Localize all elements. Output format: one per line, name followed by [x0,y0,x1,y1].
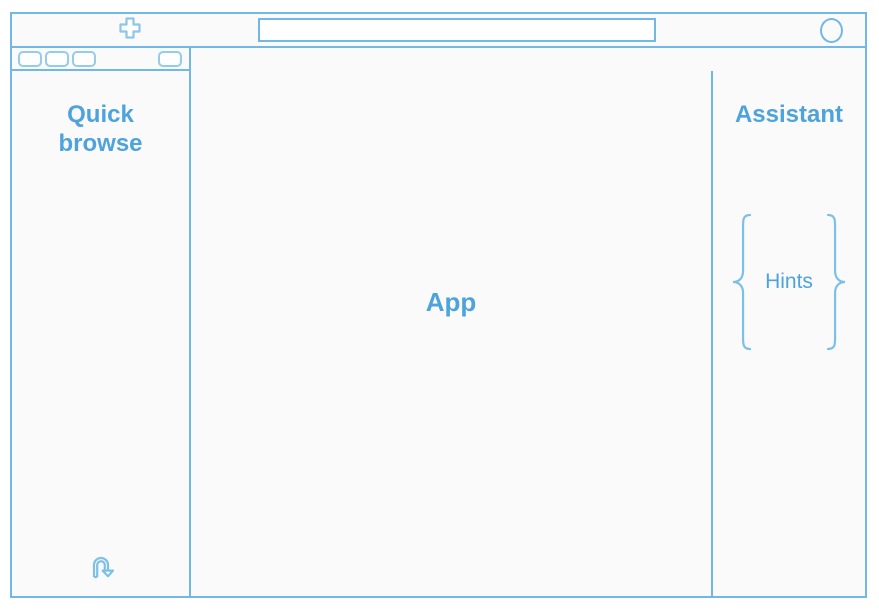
right-curly-brace-icon [822,212,848,352]
account-zone [685,14,865,46]
tab-chip-icon[interactable] [18,51,42,67]
hints-label: Hints [756,270,822,294]
quick-browse-sidebar: Quick browse [12,71,191,596]
app-content-area[interactable]: App [191,71,713,596]
tab-chip-icon[interactable] [158,51,182,67]
tab-strip [12,48,191,71]
assistant-title: Assistant [735,101,843,129]
hints-group: Hints [730,212,848,352]
tab-chip-icon[interactable] [45,51,69,67]
assistant-panel: Assistant Hints [713,71,865,596]
sidebar-title: Quick browse [36,101,166,159]
left-curly-brace-icon [730,212,756,352]
sidebar-footer [12,552,189,582]
tab-chip-icon[interactable] [72,51,96,67]
new-tab-zone [12,14,248,46]
address-bar-input[interactable] [258,18,656,42]
circle-avatar-icon[interactable] [820,18,843,43]
browser-top-bar [12,14,865,48]
address-bar-zone [248,14,685,46]
u-turn-arrow-icon[interactable] [86,552,116,582]
body-columns: Quick browse App Assistant [12,71,865,596]
app-label: App [426,287,477,318]
plus-icon[interactable] [116,16,144,44]
wireframe-canvas: Quick browse App Assistant [10,12,867,598]
